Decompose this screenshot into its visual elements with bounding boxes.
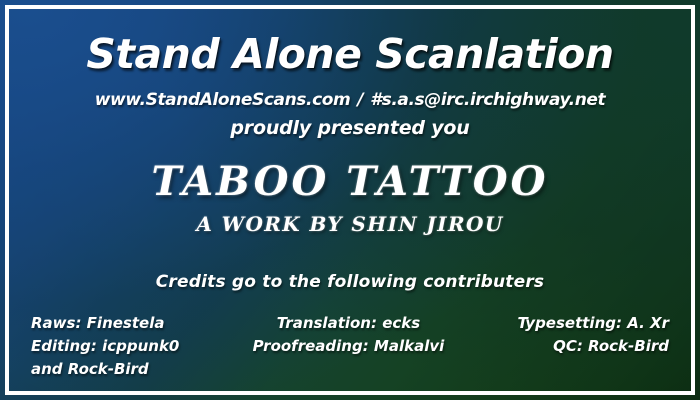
contact-separator: / <box>350 89 370 111</box>
manga-author-line: A WORK BY SHIN JIROU <box>9 211 691 237</box>
group-irc-channel: #s.a.s@irc.irchighway.net <box>370 90 605 110</box>
credit-line-editing-cont: and Rock-Bird <box>31 358 179 381</box>
credits-heading: Credits go to the following contributers <box>9 271 691 293</box>
credits-columns: Raws: Finestela Editing: icppunk0 and Ro… <box>9 312 691 381</box>
presents-line: proudly presented you <box>9 116 691 140</box>
credit-line-raws: Raws: Finestela <box>31 312 179 335</box>
scanlation-group-title: Stand Alone Scanlation <box>9 32 691 76</box>
group-contact-line: www.StandAloneScans.com/#s.a.s@irc.irchi… <box>9 89 691 111</box>
credits-column-middle: Translation: ecks Proofreading: Malkalvi <box>253 312 445 358</box>
credits-column-right: Typesetting: A. Xr QC: Rock-Bird <box>518 312 691 358</box>
page-content: Stand Alone Scanlation www.StandAloneSca… <box>9 9 691 391</box>
credits-column-left: Raws: Finestela Editing: icppunk0 and Ro… <box>9 312 179 381</box>
credit-line-translation: Translation: ecks <box>253 312 445 335</box>
group-website: www.StandAloneScans.com <box>95 90 351 110</box>
credit-line-editing: Editing: icppunk0 <box>31 335 179 358</box>
credit-line-qc: QC: Rock-Bird <box>518 335 669 358</box>
manga-title: TABOO TATTOO <box>9 159 691 205</box>
credit-line-proofreading: Proofreading: Malkalvi <box>253 335 445 358</box>
credits-page: Stand Alone Scanlation www.StandAloneSca… <box>0 0 700 400</box>
credit-line-typesetting: Typesetting: A. Xr <box>518 312 669 335</box>
